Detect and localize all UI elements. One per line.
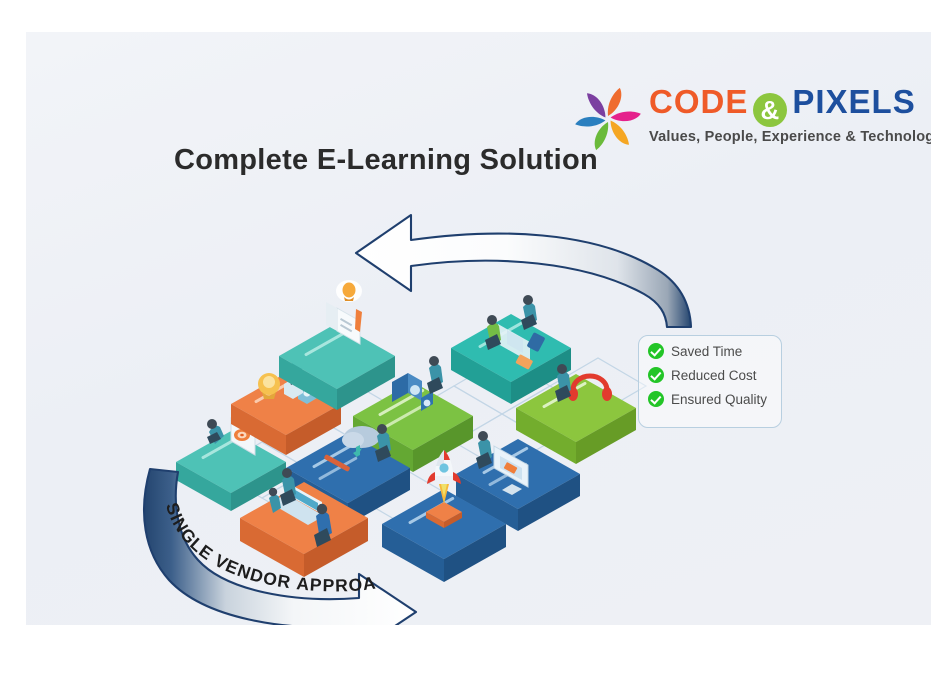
isometric-diagram: SINGLE VENDOR APPROACH — [26, 32, 931, 625]
feedback-loop-arrow — [356, 215, 691, 327]
benefit-label: Ensured Quality — [671, 392, 767, 407]
benefit-item: Saved Time — [648, 343, 773, 359]
benefit-item: Reduced Cost — [648, 367, 773, 383]
check-circle-icon — [648, 367, 664, 383]
check-circle-icon — [648, 343, 664, 359]
benefit-label: Saved Time — [671, 344, 742, 359]
slide-canvas: CODE&PIXELS Values, People, Experience &… — [26, 32, 931, 625]
benefit-item: Ensured Quality — [648, 391, 773, 407]
benefits-panel: Saved Time Reduced Cost Ensured Quality — [638, 335, 782, 428]
check-circle-icon — [648, 391, 664, 407]
benefit-label: Reduced Cost — [671, 368, 757, 383]
